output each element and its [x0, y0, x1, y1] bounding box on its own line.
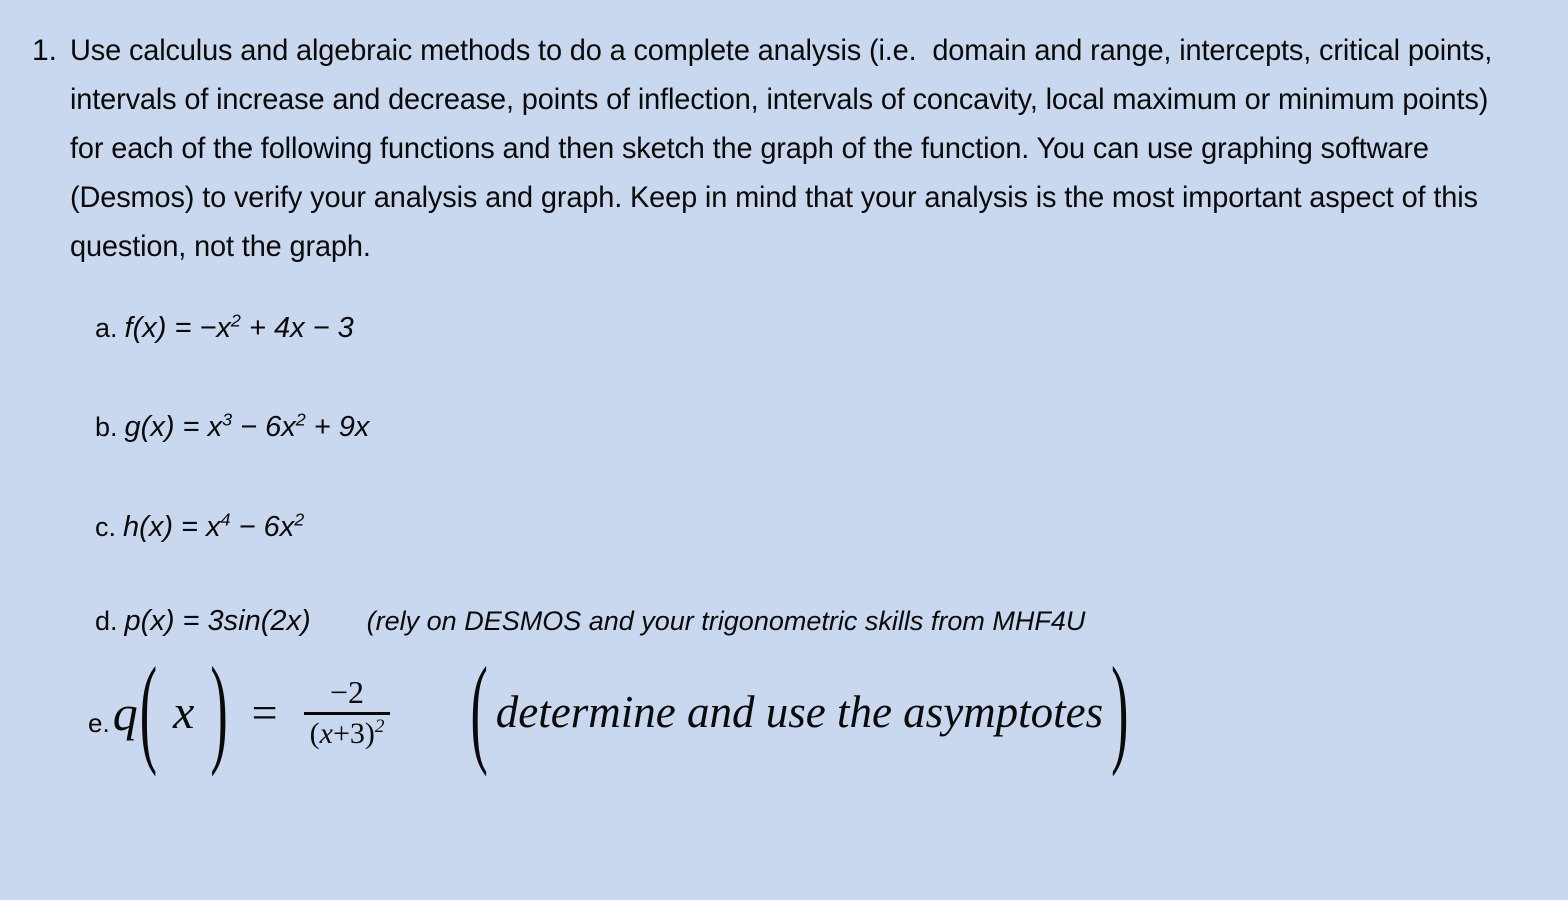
- question-text: Use calculus and algebraic methods to do…: [70, 26, 1510, 271]
- item-d-note: (rely on DESMOS and your trigonometric s…: [367, 606, 1086, 637]
- item-a-term1-base: −x: [199, 312, 230, 344]
- item-a-term1-exponent: 2: [231, 310, 241, 330]
- item-e-fraction: −2 (x+3)2: [304, 676, 391, 749]
- item-e-note: determine and use the asymptotes: [490, 690, 1109, 735]
- item-b-formula: g(x) = x3 − 6x2 + 9x: [125, 411, 370, 444]
- item-b-term2-exponent: 2: [296, 409, 306, 429]
- item-c-formula: h(x) = x4 − 6x2: [123, 511, 304, 544]
- fraction-numerator: −2: [320, 676, 374, 712]
- item-a-label: a.: [95, 313, 118, 344]
- list-item-c: c. h(x) = x4 − 6x2: [95, 511, 304, 544]
- item-e-note-paren-close: ): [1111, 651, 1128, 773]
- denominator-suffix: +3): [333, 717, 375, 750]
- item-e-label: e.: [88, 708, 110, 739]
- item-a-equals: =: [166, 312, 199, 344]
- item-d-label: d.: [95, 606, 118, 637]
- item-d-formula: p(x) = 3sin(2x): [125, 605, 311, 638]
- item-c-term2-exponent: 2: [294, 509, 304, 529]
- item-a-fn: f: [125, 312, 133, 344]
- item-b-term1-exponent: 3: [222, 409, 232, 429]
- worksheet-page: 1. Use calculus and algebraic methods to…: [0, 0, 1568, 900]
- item-a-formula: f(x) = −x2 + 4x − 3: [125, 312, 354, 345]
- item-c-label: c.: [95, 512, 116, 543]
- item-b-fn: g: [125, 411, 141, 443]
- denominator-prefix: (: [310, 717, 320, 750]
- item-e-paren-open: (: [140, 651, 157, 773]
- list-item-d: d. p(x) = 3sin(2x) (rely on DESMOS and y…: [95, 605, 1085, 638]
- item-e-note-group: ( determine and use the asymptotes ): [468, 687, 1130, 739]
- item-b-tail: + 9x: [306, 411, 370, 443]
- item-c-fn: h: [123, 511, 139, 543]
- denominator-variable: x: [320, 717, 333, 750]
- item-b-label: b.: [95, 412, 118, 443]
- list-item-e: e. q ( x ) = −2 (x+3)2 ( determine and u…: [88, 676, 1130, 749]
- item-c-arg: (x): [139, 511, 173, 543]
- list-item-a: a. f(x) = −x2 + 4x − 3: [95, 312, 354, 345]
- item-a-tail: + 4x − 3: [241, 312, 354, 344]
- question-number: 1.: [32, 26, 70, 75]
- item-c-term1-base: x: [206, 511, 221, 543]
- item-c-term1-exponent: 4: [221, 509, 231, 529]
- item-b-term1-base: x: [208, 411, 223, 443]
- question-1: 1. Use calculus and algebraic methods to…: [32, 26, 1562, 271]
- item-b-arg: (x): [141, 411, 175, 443]
- item-e-equals: =: [252, 686, 278, 739]
- item-c-mid: − 6x: [231, 511, 295, 543]
- item-b-equals: =: [175, 411, 208, 443]
- item-e-variable: x: [159, 685, 208, 740]
- item-e-paren-close: ): [210, 651, 227, 773]
- denominator-exponent: 2: [375, 716, 385, 737]
- item-e-fn: q: [113, 688, 138, 738]
- item-b-mid: − 6x: [232, 411, 296, 443]
- fraction-denominator: (x+3)2: [304, 715, 391, 750]
- list-item-b: b. g(x) = x3 − 6x2 + 9x: [95, 411, 369, 444]
- item-c-equals: =: [173, 511, 206, 543]
- item-e-note-paren-open: (: [470, 651, 487, 773]
- item-a-arg: (x): [133, 312, 167, 344]
